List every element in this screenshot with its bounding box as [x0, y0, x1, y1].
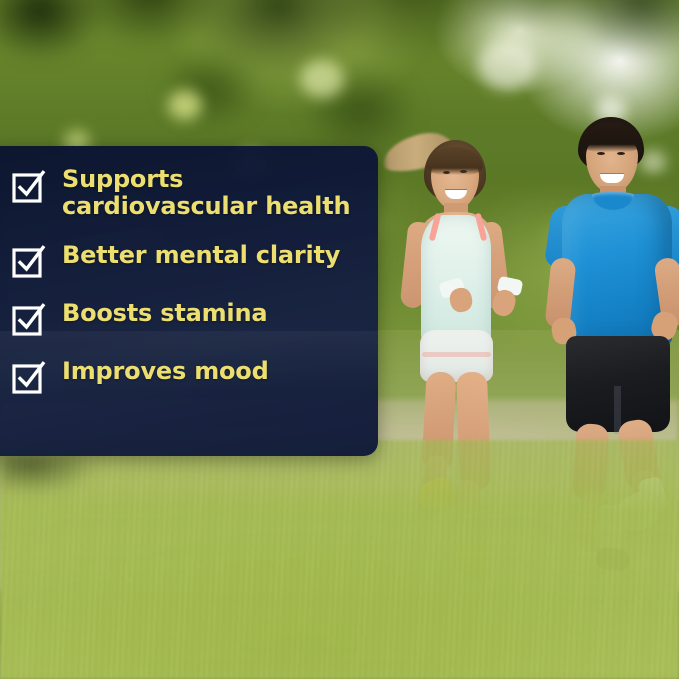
benefit-label: Supports cardiovascular health	[62, 166, 350, 220]
woman-right-eye	[460, 170, 467, 173]
benefit-label: Better mental clarity	[62, 242, 340, 269]
grass-shadow-edge	[0, 455, 120, 515]
benefits-list: Supports cardiovascular health Better me…	[12, 166, 364, 394]
checked-checkbox-icon	[12, 304, 46, 336]
benefit-label: Improves mood	[62, 358, 269, 385]
benefit-label: Boosts stamina	[62, 300, 267, 327]
benefit-item-mental-clarity: Better mental clarity	[12, 242, 364, 278]
benefit-item-mood: Improves mood	[12, 358, 364, 394]
checked-checkbox-icon	[12, 246, 46, 278]
man-left-eye	[597, 152, 605, 155]
checked-checkbox-icon	[12, 362, 46, 394]
man-right-eye	[617, 152, 625, 155]
benefits-panel: Supports cardiovascular health Better me…	[0, 146, 378, 456]
product-banner: Supports cardiovascular health Better me…	[0, 0, 679, 679]
checked-checkbox-icon	[12, 171, 46, 203]
benefit-item-stamina: Boosts stamina	[12, 300, 364, 336]
benefit-item-cardiovascular: Supports cardiovascular health	[12, 166, 364, 220]
woman-shorts-stripe	[422, 352, 491, 357]
woman-left-eye	[443, 171, 450, 174]
